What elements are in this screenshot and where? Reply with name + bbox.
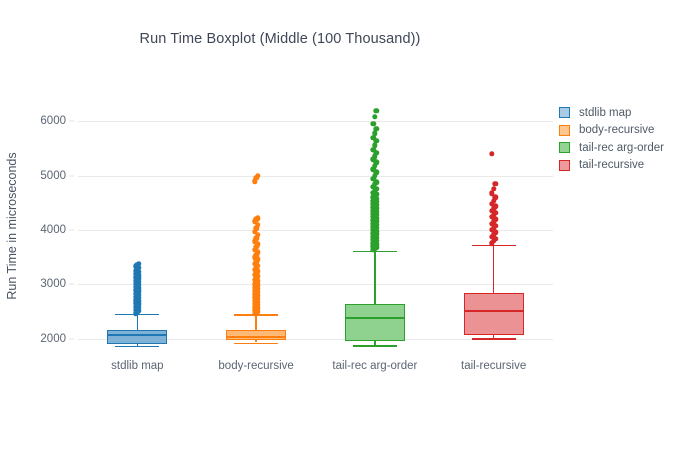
y-axis-tick-mark: [69, 175, 74, 176]
legend: stdlib mapbody-recursivetail-rec arg-ord…: [559, 104, 694, 174]
y-axis-tick-mark: [69, 121, 74, 122]
boxplot-figure: Run Time Boxplot (Middle (100 Thousand))…: [0, 0, 700, 450]
x-axis-tick-label: tail-recursive: [461, 360, 526, 372]
legend-label: tail-recursive: [579, 159, 644, 171]
legend-swatch-icon: [559, 142, 570, 153]
y-axis-tick-label: 5000: [40, 170, 66, 182]
legend-item[interactable]: tail-recursive: [559, 157, 694, 175]
outlier-point: [493, 195, 498, 200]
y-axis-tick-label: 6000: [40, 115, 66, 127]
whisker-cap: [472, 245, 516, 247]
box-group[interactable]: [78, 97, 553, 355]
x-axis-tick-label: tail-rec arg-order: [332, 360, 417, 372]
plot-area: [78, 97, 553, 355]
y-axis-tick-label: 2000: [40, 333, 66, 345]
whisker-cap: [472, 338, 516, 340]
legend-label: tail-rec arg-order: [579, 142, 664, 154]
outlier-point: [491, 186, 496, 191]
y-axis-ticks: 20003000400050006000: [0, 97, 74, 355]
x-axis-ticks: stdlib mapbody-recursivetail-rec arg-ord…: [78, 360, 553, 380]
y-axis-tick-mark: [69, 338, 74, 339]
y-axis-tick-label: 3000: [40, 278, 66, 290]
legend-swatch-icon: [559, 107, 570, 118]
chart-title: Run Time Boxplot (Middle (100 Thousand)): [0, 31, 560, 47]
legend-item[interactable]: body-recursive: [559, 122, 694, 140]
x-axis-tick-label: body-recursive: [218, 360, 293, 372]
y-axis-tick-mark: [69, 284, 74, 285]
legend-label: stdlib map: [579, 107, 631, 119]
x-axis-tick-label: stdlib map: [111, 360, 163, 372]
legend-swatch-icon: [559, 160, 570, 171]
legend-item[interactable]: tail-rec arg-order: [559, 139, 694, 157]
y-axis-tick-mark: [69, 230, 74, 231]
legend-item[interactable]: stdlib map: [559, 104, 694, 122]
box-rect[interactable]: [464, 293, 524, 335]
median-line: [464, 310, 524, 312]
outlier-point: [493, 181, 498, 186]
outlier-point: [489, 151, 494, 156]
whisker-line: [493, 245, 495, 293]
legend-label: body-recursive: [579, 124, 654, 136]
y-axis-tick-label: 4000: [40, 224, 66, 236]
legend-swatch-icon: [559, 125, 570, 136]
